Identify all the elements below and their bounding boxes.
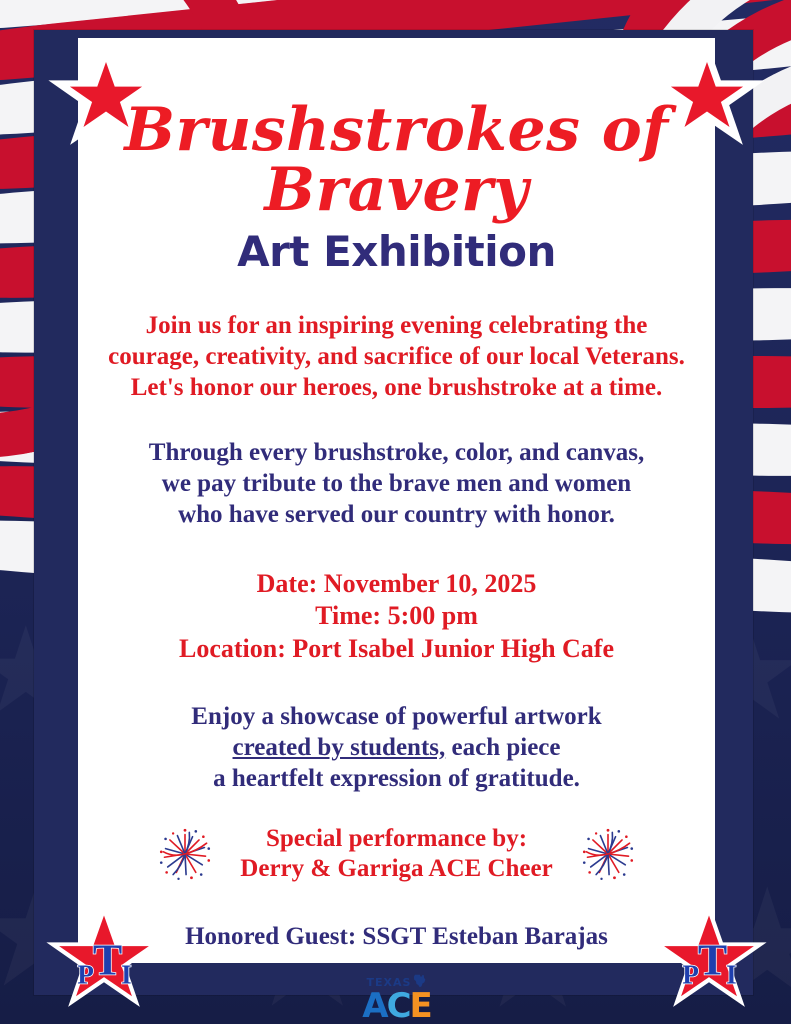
tribute-line-2: we pay tribute to the brave men and wome…	[78, 468, 715, 499]
intro-line-3: Let's honor our heroes, one brushstroke …	[78, 372, 715, 403]
performance-text: Special performance by: Derry & Garriga …	[240, 824, 552, 885]
poster-subtitle: Art Exhibition	[78, 230, 715, 274]
ace-letters: ACE	[362, 989, 431, 1023]
texas-ace-logo: TEXAS ACE Afterschool Centers on Educati…	[78, 974, 715, 1024]
event-date: Date: November 10, 2025	[78, 568, 715, 600]
tribute-paragraph: Through every brushstroke, color, and ca…	[78, 437, 715, 530]
showcase-line-2-rest: each piece	[445, 734, 560, 761]
intro-line-1: Join us for an inspiring evening celebra…	[78, 310, 715, 341]
showcase-underlined-text: created by students,	[233, 734, 446, 761]
event-details: Date: November 10, 2025 Time: 5:00 pm Lo…	[78, 568, 715, 665]
event-location: Location: Port Isabel Junior High Cafe	[78, 633, 715, 665]
tribute-line-1: Through every brushstroke, color, and ca…	[78, 437, 715, 468]
performance-row: Special performance by: Derry & Garriga …	[78, 824, 715, 885]
ace-letter-a: A	[362, 989, 386, 1023]
intro-paragraph: Join us for an inspiring evening celebra…	[78, 310, 715, 403]
poster-root: ★ ★ ★ ★ ★ ★ ★ ★ PTI	[0, 0, 791, 1024]
intro-line-2: courage, creativity, and sacrifice of ou…	[78, 341, 715, 372]
fireworks-icon	[579, 827, 637, 881]
poster-title: Brushstrokes of Bravery	[78, 100, 715, 220]
ace-letter-e: E	[410, 989, 431, 1023]
showcase-line-1: Enjoy a showcase of powerful artwork	[78, 701, 715, 732]
showcase-line-2: created by students, each piece	[78, 732, 715, 763]
performance-line-2: Derry & Garriga ACE Cheer	[240, 854, 552, 885]
showcase-paragraph: Enjoy a showcase of powerful artwork cre…	[78, 701, 715, 794]
fireworks-icon	[156, 827, 214, 881]
ace-letter-c: C	[387, 989, 410, 1023]
tribute-line-3: who have served our country with honor.	[78, 499, 715, 530]
pti-letter-i: I	[726, 960, 736, 990]
showcase-line-3: a heartfelt expression of gratitude.	[78, 763, 715, 794]
poster-content: Brushstrokes of Bravery Art Exhibition J…	[78, 38, 715, 963]
performance-line-1: Special performance by:	[240, 824, 552, 855]
event-time: Time: 5:00 pm	[78, 600, 715, 632]
honored-guest: Honored Guest: SSGT Esteban Barajas	[78, 921, 715, 952]
